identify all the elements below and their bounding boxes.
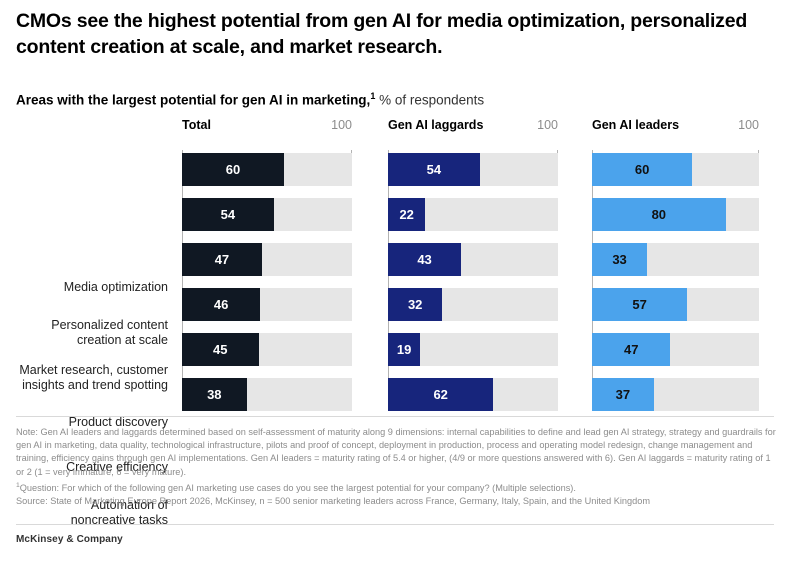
bar-row[interactable]: 60 [592,153,759,186]
axis-max-label: 100 [331,118,352,132]
panel-title: Gen AI laggards [388,118,483,132]
bar-value-label: 47 [182,243,262,276]
category-label: Media optimization [0,271,176,304]
bar-row[interactable]: 45 [182,333,352,366]
page-title: CMOs see the highest potential from gen … [16,8,756,60]
panel-header: Gen AI leaders100 [592,118,759,142]
category-label-text: Media optimization [64,280,168,295]
bar-row[interactable]: 60 [182,153,352,186]
bar-row[interactable]: 62 [388,378,558,411]
bar-rows: 542243321962 [388,153,558,423]
category-label-text: Personalized contentcreation at scale [51,318,168,348]
bar-row[interactable]: 54 [388,153,558,186]
grouped-bar-chart: Media optimizationPersonalized contentcr… [0,118,790,408]
bar-row[interactable]: 32 [388,288,558,321]
bar-row[interactable]: 22 [388,198,558,231]
chart-panel: Gen AI laggards100542243321962 [388,118,558,408]
chart-panel: Total100605447464538 [182,118,352,408]
bar-rows: 605447464538 [182,153,352,423]
bar-value-label: 47 [592,333,670,366]
mckinsey-logo: McKinsey & Company [16,534,123,545]
footer-divider [16,416,774,417]
bar-rows: 608033574737 [592,153,759,423]
bar-row[interactable]: 46 [182,288,352,321]
footnotes: Note: Gen AI leaders and laggards determ… [16,426,776,508]
bar-row[interactable]: 43 [388,243,558,276]
chart-subtitle-strong: Areas with the largest potential for gen… [16,93,370,108]
bar-value-label: 32 [388,288,442,321]
bar-value-label: 60 [592,153,692,186]
footnote-source: Source: State of Marketing Europe Report… [16,495,776,508]
chart-panel: Gen AI leaders100608033574737 [592,118,759,408]
bar-value-label: 57 [592,288,687,321]
footnote-question-text: Question: For which of the following gen… [20,483,576,493]
bar-row[interactable]: 80 [592,198,759,231]
footnote-question: 1Question: For which of the following ge… [16,479,776,495]
bar-value-label: 22 [388,198,425,231]
panel-title: Gen AI leaders [592,118,679,132]
footnote-note: Note: Gen AI leaders and laggards determ… [16,426,776,479]
bar-value-label: 80 [592,198,726,231]
panel-title: Total [182,118,211,132]
panel-header: Gen AI laggards100 [388,118,558,142]
category-label: Market research, customerinsights and tr… [0,361,176,394]
bar-row[interactable]: 38 [182,378,352,411]
bar-row[interactable]: 33 [592,243,759,276]
bar-value-label: 43 [388,243,461,276]
bar-value-label: 38 [182,378,247,411]
bar-value-label: 37 [592,378,654,411]
bar-row[interactable]: 37 [592,378,759,411]
bar-value-label: 33 [592,243,647,276]
brand-divider [16,524,774,525]
bar-value-label: 54 [182,198,274,231]
bar-row[interactable]: 54 [182,198,352,231]
bar-value-label: 54 [388,153,480,186]
bar-value-label: 19 [388,333,420,366]
chart-subtitle-footnote-marker: 1 [370,91,375,101]
category-label-text: Market research, customerinsights and tr… [19,363,168,393]
axis-max-label: 100 [738,118,759,132]
axis-max-label: 100 [537,118,558,132]
bar-value-label: 45 [182,333,259,366]
bar-row[interactable]: 57 [592,288,759,321]
bar-row[interactable]: 19 [388,333,558,366]
chart-subtitle-units: % of respondents [379,93,484,108]
chart-subtitle: Areas with the largest potential for gen… [16,87,484,110]
category-label: Personalized contentcreation at scale [0,316,176,349]
bar-row[interactable]: 47 [592,333,759,366]
panel-header: Total100 [182,118,352,142]
bar-value-label: 60 [182,153,284,186]
bar-row[interactable]: 47 [182,243,352,276]
bar-value-label: 62 [388,378,493,411]
bar-value-label: 46 [182,288,260,321]
